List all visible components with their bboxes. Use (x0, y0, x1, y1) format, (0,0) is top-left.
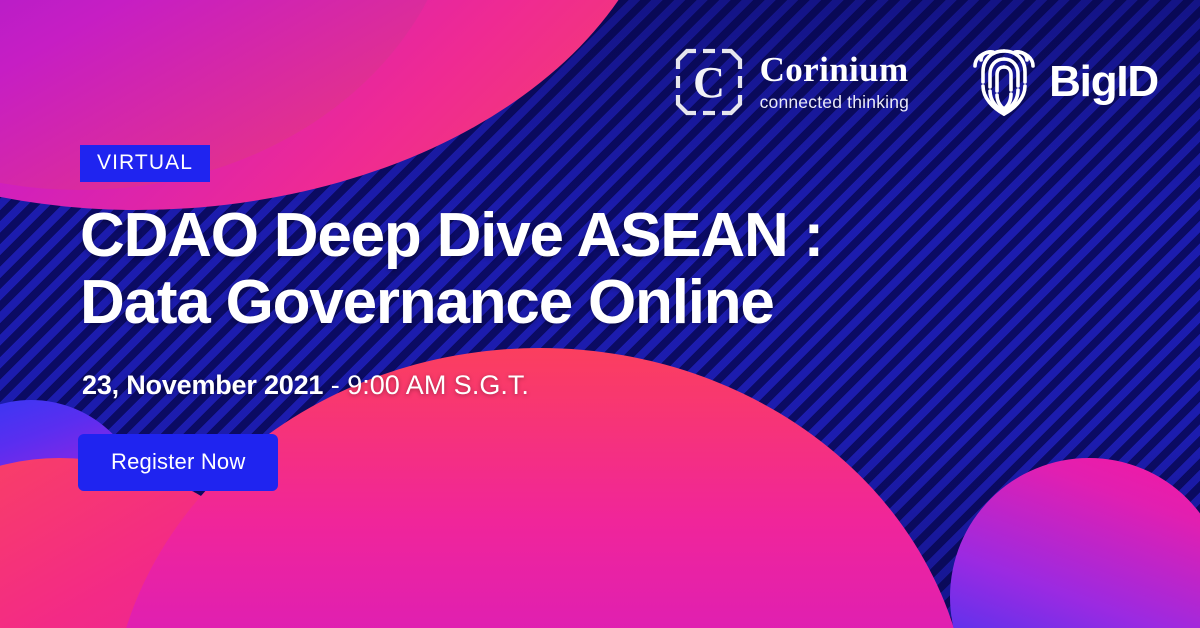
event-datetime: 23, November 2021 - 9:00 AM S.G.T. (82, 372, 529, 399)
corinium-wordmark: Corinium connected thinking (760, 52, 910, 112)
svg-text:C: C (693, 58, 725, 107)
bigid-fingerprint-shield-icon (971, 46, 1037, 118)
bigid-logo: BigID (971, 46, 1158, 118)
event-time: - 9:00 AM S.G.T. (323, 370, 529, 400)
corinium-bracket-c-icon: C (673, 46, 745, 118)
corinium-logo: C Corinium connected thinking (673, 46, 910, 118)
event-date: 23, November 2021 (82, 370, 323, 400)
banner-content: C Corinium connected thinking (0, 0, 1200, 628)
headline-line-1: CDAO Deep Dive ASEAN : (80, 201, 823, 270)
corinium-tagline: connected thinking (760, 94, 910, 112)
corinium-name: Corinium (760, 52, 910, 87)
headline-line-2: Data Governance Online (80, 270, 823, 337)
status-badge-virtual: VIRTUAL (80, 145, 210, 182)
event-promo-banner: C Corinium connected thinking (0, 0, 1200, 628)
register-now-button[interactable]: Register Now (78, 434, 278, 491)
bigid-wordmark: BigID (1049, 57, 1158, 107)
page-title: CDAO Deep Dive ASEAN : Data Governance O… (80, 203, 823, 337)
logo-lockup: C Corinium connected thinking (673, 46, 1158, 118)
